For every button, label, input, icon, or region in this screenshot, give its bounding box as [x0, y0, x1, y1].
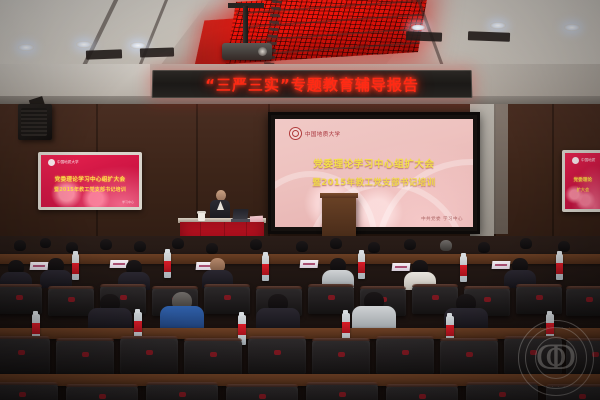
auditorium-seat: [566, 338, 600, 376]
auditorium-seat: [48, 286, 94, 316]
bottle-label: [342, 322, 350, 333]
bottle-cap: [239, 312, 244, 316]
bottle-label: [238, 324, 246, 335]
audience-head: [14, 240, 26, 251]
projection-screen-surface: 中国地质大学 党委理论学习中心组扩大会 暨2015年教工党支部书记培训 中共党委…: [275, 119, 473, 227]
audience-area: · · · · · ↂ · · · ·: [0, 236, 600, 400]
auditorium-seat: [0, 336, 50, 374]
seat-rim: [306, 382, 378, 385]
seat-rim: [184, 338, 242, 341]
water-bottle: [164, 252, 171, 278]
auditorium-seat: [376, 336, 434, 374]
audience-head: [206, 243, 218, 254]
seat-rim: [66, 384, 138, 387]
downlight-2: [76, 41, 92, 48]
auditorium-seat: [312, 338, 370, 376]
wood-wall-seam-5: [552, 104, 554, 252]
name-card: [30, 262, 49, 270]
ceiling-projector: [222, 43, 272, 60]
audience-head: [330, 238, 342, 249]
seat-rim: [308, 284, 354, 287]
audience-head: [100, 239, 112, 250]
downlight-6: [564, 24, 580, 31]
audience-head: [520, 238, 532, 249]
audience-shoulder: [88, 308, 132, 330]
downlight-1: [18, 44, 34, 51]
left-monitor-footer: 学习中心: [122, 200, 134, 204]
seat-rim: [152, 286, 198, 289]
bottle-label: [446, 325, 454, 336]
downlight-4: [410, 24, 426, 31]
auditorium-seat: [0, 284, 42, 314]
banner-text: “三严三实”专题教育辅导报告: [153, 74, 472, 95]
seat-rim: [312, 338, 370, 341]
audience-head: [296, 241, 308, 252]
bottle-cap: [263, 252, 268, 256]
audience-shoulder: [256, 308, 300, 330]
right-monitor-logo: 中国地质: [572, 157, 595, 164]
seat-rim: [412, 284, 458, 287]
seat-rim: [100, 284, 146, 287]
bottle-cap: [461, 253, 466, 257]
screenshot-root: “三严三实”专题教育辅导报告 中国地质大学 党委理论学习中心组扩大会 暨2015…: [0, 0, 600, 400]
bottle-label: [32, 323, 40, 334]
university-seal-icon: [48, 159, 55, 166]
water-bottle: [72, 254, 79, 280]
loudspeaker-grill-icon: [21, 108, 47, 136]
name-card: [392, 263, 411, 271]
seat-rim: [0, 284, 42, 287]
seat-rim: [516, 284, 562, 287]
bottle-cap: [447, 313, 452, 317]
left-monitor-logo: 中国地质大学: [48, 159, 79, 166]
seat-rim: [120, 336, 178, 339]
auditorium-seat: [184, 338, 242, 376]
seat-rim: [504, 336, 562, 339]
auditorium-seat: [120, 336, 178, 374]
auditorium-seat: [306, 382, 378, 400]
water-bottle: [556, 254, 563, 280]
right-led-monitor-surface: 中国地质 党委理论 扩大会: [565, 153, 600, 209]
right-monitor-line-2: 扩大会: [565, 187, 600, 193]
seat-rim: [48, 286, 94, 289]
ceiling-vent-2: [140, 47, 174, 57]
audience-head: [134, 241, 146, 252]
auditorium-seat: [248, 336, 306, 374]
water-bottle: [460, 256, 467, 282]
downlight-5: [490, 22, 506, 29]
slide-title-line-2: 暨2015年教工党支部书记培训: [275, 176, 473, 188]
bottle-cap: [547, 311, 552, 315]
projection-screen: 中国地质大学 党委理论学习中心组扩大会 暨2015年教工党支部书记培训 中共党委…: [268, 112, 480, 234]
bottle-cap: [165, 249, 170, 253]
bottle-cap: [359, 250, 364, 254]
water-mug: [198, 213, 205, 221]
audience-head: [250, 239, 262, 250]
ceiling: [0, 0, 600, 72]
right-wall-far-panel: [494, 104, 508, 234]
seat-rim: [566, 338, 600, 341]
left-led-monitor: 中国地质大学 党委理论学习中心组扩大会 暨2015年教工党支部书记培训 学习中心: [38, 152, 142, 210]
bottle-label: [358, 262, 365, 273]
right-monitor-wordmark: 中国地质: [581, 158, 595, 163]
ceiling-vent-4: [468, 31, 510, 41]
audience-shoulder: [160, 306, 204, 330]
auditorium-seat: [546, 384, 600, 400]
auditorium-seat: [504, 336, 562, 374]
seat-rim: [466, 382, 538, 385]
slide-title-line-1: 党委理论学习中心组扩大会: [275, 156, 473, 170]
auditorium-seat: [440, 338, 498, 376]
auditorium-seat: [516, 284, 562, 314]
audience-head: [172, 238, 184, 249]
bottle-cap: [557, 251, 562, 255]
headline-led-banner: “三严三实”专题教育辅导报告: [152, 70, 473, 98]
seat-rim: [566, 286, 600, 289]
bottle-label: [164, 261, 171, 272]
seat-rim: [56, 338, 114, 341]
bottle-cap: [33, 311, 38, 315]
university-seal-icon: [572, 157, 579, 164]
bottle-cap: [135, 309, 140, 313]
auditorium-seat: [386, 384, 458, 400]
projector-lens-icon: [258, 47, 267, 56]
name-card: [492, 261, 511, 269]
bottle-cap: [73, 251, 78, 255]
auditorium-seat: [466, 382, 538, 400]
seat-rim: [0, 336, 50, 339]
bottle-cap: [343, 310, 348, 314]
bottle-label: [72, 263, 79, 274]
ceiling-panel-left: [0, 0, 210, 72]
audience-shoulder: [352, 306, 396, 330]
seat-rim: [226, 384, 298, 387]
bottle-label: [262, 264, 269, 275]
slide-footer: 中共党委 学习中心: [421, 216, 463, 222]
auditorium-seat: [146, 382, 218, 400]
bottle-label: [134, 321, 142, 332]
water-bottle: [358, 253, 365, 279]
seat-rim: [464, 286, 510, 289]
seat-rim: [0, 382, 58, 385]
audience-head: [368, 242, 380, 253]
name-card: [300, 260, 319, 268]
seat-rim: [376, 336, 434, 339]
seat-rim: [256, 286, 302, 289]
left-led-monitor-surface: 中国地质大学 党委理论学习中心组扩大会 暨2015年教工党支部书记培训 学习中心: [41, 155, 139, 207]
seat-rim: [386, 384, 458, 387]
left-monitor-wordmark: 中国地质大学: [57, 160, 79, 165]
auditorium-seat: [0, 382, 58, 400]
auditorium-seat: [204, 284, 250, 314]
university-seal-icon: [289, 127, 302, 140]
seat-rim: [360, 286, 406, 289]
audience-head: [478, 242, 490, 253]
audience-head: [440, 240, 452, 251]
slide-logo: 中国地质大学: [289, 127, 340, 140]
right-led-monitor: 中国地质 党委理论 扩大会: [562, 150, 600, 212]
seat-rim: [204, 284, 250, 287]
water-bottle: [262, 255, 269, 281]
seat-rim: [546, 384, 600, 387]
university-wordmark: 中国地质大学: [305, 130, 340, 138]
podium-top: [320, 193, 358, 198]
right-monitor-line-1: 党委理论: [565, 177, 600, 183]
left-monitor-line-2: 暨2015年教工党支部书记培训: [41, 186, 139, 193]
bottle-label: [460, 265, 467, 276]
ceiling-vent-1: [86, 49, 122, 59]
audience-head: [40, 238, 51, 248]
auditorium-seat: [66, 384, 138, 400]
left-monitor-line-1: 党委理论学习中心组扩大会: [41, 175, 139, 183]
bottle-label: [556, 263, 563, 274]
auditorium-seat: [226, 384, 298, 400]
bottle-label: [546, 323, 554, 334]
audience-head: [404, 239, 416, 250]
wall-loudspeaker: [18, 104, 52, 140]
ceiling-vent-3: [406, 31, 442, 41]
seat-rim: [248, 336, 306, 339]
seat-rim: [146, 382, 218, 385]
auditorium-seat: [566, 286, 600, 316]
projector-mount-pole: [243, 6, 248, 44]
seat-rim: [440, 338, 498, 341]
auditorium-seat: [56, 338, 114, 376]
